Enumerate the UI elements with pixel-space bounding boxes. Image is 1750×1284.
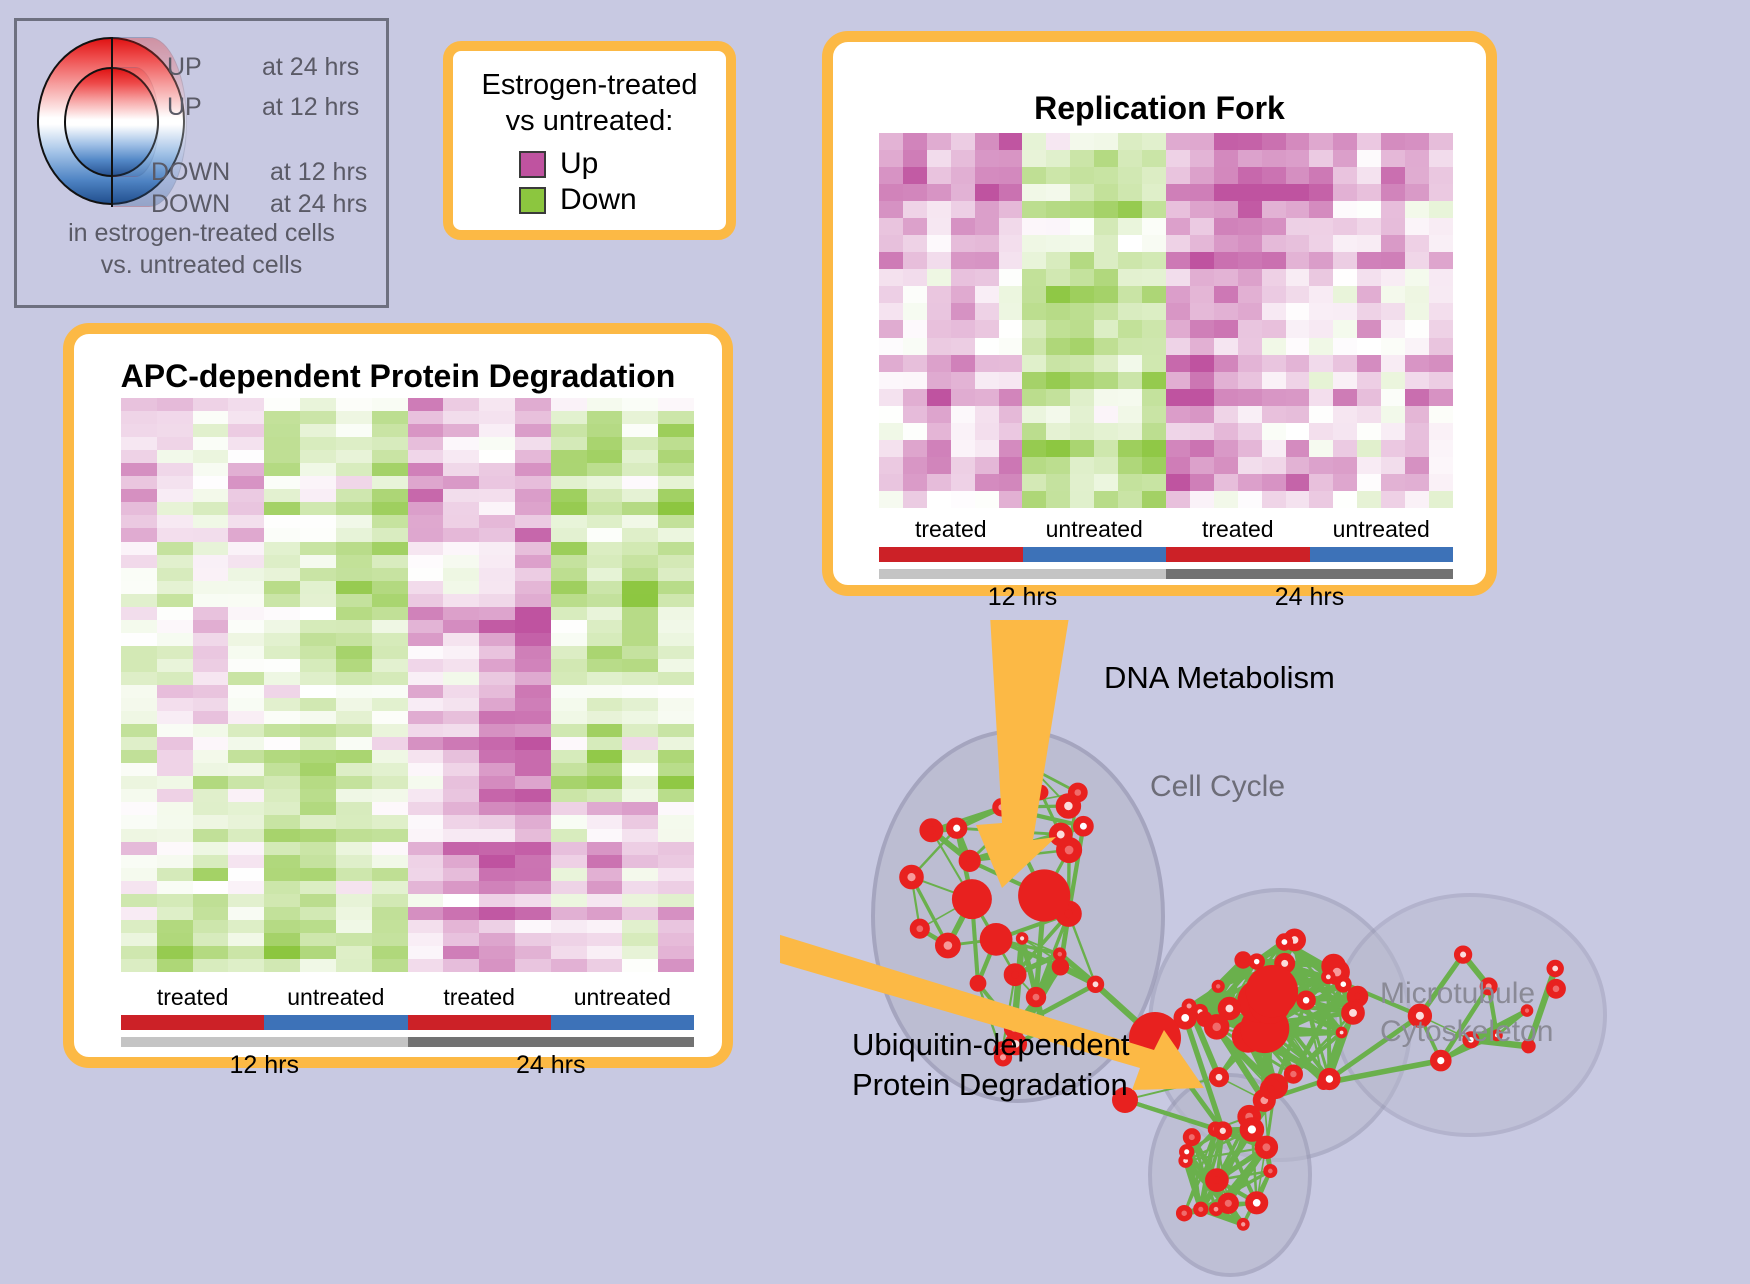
rf-condition-label-2: treated (1166, 516, 1310, 543)
heatmap-cell (1238, 457, 1262, 474)
heatmap-cell (587, 894, 623, 907)
heatmap-cell (1262, 167, 1286, 184)
panel-apc-degradation: APC-dependent Protein Degradation treate… (63, 323, 733, 1068)
heatmap-cell (879, 218, 903, 235)
heatmap-cell (157, 568, 193, 581)
network-node[interactable] (1212, 1071, 1225, 1084)
heatmap-cell (551, 737, 587, 750)
network-node[interactable] (1179, 1208, 1190, 1219)
heatmap-cell (228, 894, 264, 907)
heatmap-cell (443, 698, 479, 711)
heatmap-cell (903, 406, 927, 423)
heatmap-cell (157, 646, 193, 659)
heatmap-cell (408, 489, 444, 502)
heatmap-cell (879, 303, 903, 320)
network-node[interactable] (1324, 972, 1334, 982)
network-node[interactable] (1549, 963, 1561, 975)
heatmap-cell (408, 594, 444, 607)
heatmap-cell (157, 515, 193, 528)
heatmap-cell (1262, 303, 1286, 320)
heatmap-cell (551, 620, 587, 633)
network-node[interactable] (1008, 967, 1023, 982)
network-node[interactable] (1244, 1121, 1260, 1137)
heatmap-cell (1118, 252, 1142, 269)
heatmap-cell (1214, 133, 1238, 150)
heatmap-cell (903, 218, 927, 235)
heatmap-cell (408, 763, 444, 776)
heatmap-cell (1094, 167, 1118, 184)
heatmap-cell (879, 286, 903, 303)
heatmap-cell (1118, 389, 1142, 406)
heatmap-cell (1046, 491, 1070, 508)
heatmap-cell (264, 737, 300, 750)
heatmap-cell (622, 620, 658, 633)
heatmap-cell (1381, 440, 1405, 457)
cluster-label-ubiquitin-line2: Protein Degradation (852, 1065, 1130, 1105)
heatmap-cell (658, 881, 694, 894)
heatmap-cell (121, 515, 157, 528)
heatmap-cell (1118, 372, 1142, 389)
heatmap-cell (479, 776, 515, 789)
heatmap-cell (193, 907, 229, 920)
heatmap-cell (622, 568, 658, 581)
apc-condition-colorbar (121, 1015, 694, 1030)
heatmap-cell (264, 868, 300, 881)
heatmap-cell (479, 620, 515, 633)
heatmap-cell (1094, 355, 1118, 372)
heatmap-cell (999, 372, 1023, 389)
heatmap-cell (1022, 406, 1046, 423)
heatmap-cell (300, 763, 336, 776)
heatmap-cell (443, 959, 479, 972)
network-node[interactable] (1071, 786, 1084, 799)
heatmap-cell (1190, 252, 1214, 269)
network-node[interactable] (980, 923, 1013, 956)
heatmap-cell (372, 528, 408, 541)
network-node[interactable] (923, 822, 939, 838)
heatmap-cell (1166, 303, 1190, 320)
heatmap-cell (1070, 201, 1094, 218)
heatmap-cell (372, 594, 408, 607)
network-node[interactable] (1018, 934, 1026, 942)
heatmap-cell (1022, 286, 1046, 303)
heatmap-cell (658, 411, 694, 424)
heatmap-cell (587, 750, 623, 763)
heatmap-cell (479, 515, 515, 528)
heatmap-cell (264, 829, 300, 842)
heatmap-cell (1046, 252, 1070, 269)
heatmap-cell (1070, 440, 1094, 457)
network-node[interactable] (939, 937, 956, 954)
heatmap-cell (193, 868, 229, 881)
network-node[interactable] (1029, 990, 1043, 1004)
network-node[interactable] (1184, 1001, 1194, 1011)
network-node[interactable] (1246, 965, 1298, 1017)
heatmap-cell (658, 607, 694, 620)
heatmap-cell (1262, 440, 1286, 457)
wheel-midline (111, 37, 113, 207)
colorbar-segment-1 (1166, 569, 1453, 579)
network-node[interactable] (1186, 1131, 1198, 1143)
network-node[interactable] (1237, 954, 1249, 966)
heatmap-cell (408, 789, 444, 802)
heatmap-cell (927, 167, 951, 184)
heatmap-cell (372, 450, 408, 463)
heatmap-cell (336, 398, 372, 411)
heatmap-cell (300, 815, 336, 828)
heatmap-cell (903, 457, 927, 474)
network-node[interactable] (972, 978, 983, 989)
heatmap-cell (903, 150, 927, 167)
heatmap-cell (1429, 406, 1453, 423)
heatmap-cell (975, 184, 999, 201)
heatmap-cell (372, 672, 408, 685)
heatmap-cell (515, 685, 551, 698)
network-node[interactable] (1287, 1068, 1300, 1081)
network-node[interactable] (1338, 979, 1349, 990)
heatmap-cell (622, 724, 658, 737)
apc-condition-labels: treated untreated treated untreated (121, 984, 694, 1011)
heatmap-cell (658, 959, 694, 972)
heatmap-cell (228, 489, 264, 502)
heatmap-cell (1214, 406, 1238, 423)
heatmap-cell (264, 933, 300, 946)
heatmap-cell (1429, 150, 1453, 167)
heatmap-cell (1142, 252, 1166, 269)
heatmap-cell (1262, 269, 1286, 286)
heatmap-cell (1046, 150, 1070, 167)
heatmap-cell (1262, 150, 1286, 167)
heatmap-cell (587, 959, 623, 972)
panel-replication-fork-title: Replication Fork (833, 90, 1486, 127)
heatmap-cell (1070, 423, 1094, 440)
heatmap-cell (1166, 474, 1190, 491)
heatmap-cell (1286, 150, 1310, 167)
heatmap-cell (300, 724, 336, 737)
heatmap-cell (951, 133, 975, 150)
heatmap-cell (1309, 406, 1333, 423)
heatmap-cell (551, 802, 587, 815)
heatmap-cell (975, 338, 999, 355)
heatmap-cell (1238, 133, 1262, 150)
network-node[interactable] (1221, 1196, 1235, 1210)
heatmap-cell (336, 920, 372, 933)
network-node[interactable] (1055, 950, 1064, 959)
heatmap-cell (1070, 355, 1094, 372)
heatmap-cell (1333, 133, 1357, 150)
heatmap-cell (879, 372, 903, 389)
heatmap-cell (479, 581, 515, 594)
heatmap-cell (443, 581, 479, 594)
heatmap-cell (157, 542, 193, 555)
heatmap-cell (1381, 286, 1405, 303)
heatmap-cell (1094, 389, 1118, 406)
rf-condition-colorbar (879, 547, 1453, 562)
heatmap-cell (443, 842, 479, 855)
network-node[interactable] (1239, 1220, 1248, 1229)
heatmap-cell (264, 711, 300, 724)
heatmap-cell (587, 946, 623, 959)
heatmap-cell (927, 338, 951, 355)
heatmap-cell (903, 338, 927, 355)
heatmap-cell (658, 933, 694, 946)
heatmap-cell (1142, 218, 1166, 235)
heatmap-cell (951, 457, 975, 474)
heatmap-cell (264, 881, 300, 894)
heatmap-cell (1357, 355, 1381, 372)
heatmap-cell (157, 476, 193, 489)
heatmap-cell (408, 881, 444, 894)
heatmap-cell (1046, 474, 1070, 491)
heatmap-cell (228, 946, 264, 959)
heatmap-cell (1166, 184, 1190, 201)
heatmap-cell (515, 411, 551, 424)
heatmap-cell (228, 907, 264, 920)
heatmap-cell (264, 502, 300, 515)
heatmap-cell (587, 620, 623, 633)
heatmap-cell (515, 711, 551, 724)
heatmap-cell (264, 685, 300, 698)
heatmap-cell (372, 881, 408, 894)
heatmap-cell (975, 252, 999, 269)
heatmap-cell (658, 450, 694, 463)
heatmap-cell (300, 737, 336, 750)
heatmap-cell (336, 907, 372, 920)
network-node[interactable] (1300, 994, 1313, 1007)
heatmap-cell (1357, 372, 1381, 389)
heatmap-cell (193, 411, 229, 424)
network-node[interactable] (1249, 1195, 1264, 1210)
heatmap-cell (336, 763, 372, 776)
heatmap-cell (1166, 286, 1190, 303)
heatmap-cell (999, 320, 1023, 337)
heatmap-cell (193, 620, 229, 633)
heatmap-cell (1405, 218, 1429, 235)
heatmap-cell (1309, 338, 1333, 355)
heatmap-cell (443, 489, 479, 502)
network-node[interactable] (962, 854, 977, 869)
heatmap-cell (228, 568, 264, 581)
colorbar-segment-1 (408, 1037, 695, 1047)
heatmap-cell (879, 201, 903, 218)
heatmap-cell (1381, 252, 1405, 269)
heatmap-cell (1309, 440, 1333, 457)
network-node[interactable] (1457, 949, 1469, 961)
heatmap-cell (121, 489, 157, 502)
heatmap-cell (1046, 269, 1070, 286)
heatmap-cell (193, 724, 229, 737)
heatmap-cell (336, 515, 372, 528)
network-node[interactable] (1208, 1018, 1225, 1035)
network-node[interactable] (1090, 979, 1102, 991)
heatmap-cell (975, 218, 999, 235)
updown-legend-items: Up Down (519, 147, 637, 219)
network-node[interactable] (1222, 1001, 1238, 1017)
heatmap-cell (408, 515, 444, 528)
heatmap-cell (121, 398, 157, 411)
network-node[interactable] (1345, 1005, 1361, 1021)
network-node[interactable] (1338, 1029, 1346, 1037)
heatmap-cell (1022, 320, 1046, 337)
network-node[interactable] (1214, 982, 1223, 991)
heatmap-cell (372, 842, 408, 855)
heatmap-cell (479, 711, 515, 724)
network-node[interactable] (1322, 1072, 1337, 1087)
heatmap-cell (1333, 474, 1357, 491)
heatmap-cell (975, 406, 999, 423)
network-node[interactable] (913, 922, 926, 935)
heatmap-cell (622, 581, 658, 594)
heatmap-cell (443, 724, 479, 737)
heatmap-cell (408, 802, 444, 815)
heatmap-cell (443, 411, 479, 424)
heatmap-cell (443, 607, 479, 620)
network-node[interactable] (1251, 956, 1262, 967)
heatmap-cell (300, 802, 336, 815)
heatmap-cell (999, 355, 1023, 372)
network-node[interactable] (1211, 1205, 1220, 1214)
heatmap-cell (157, 633, 193, 646)
network-node[interactable] (1264, 1082, 1278, 1096)
heatmap-cell (300, 555, 336, 568)
heatmap-cell (336, 829, 372, 842)
network-node[interactable] (1053, 827, 1069, 843)
heatmap-cell (622, 450, 658, 463)
heatmap-cell (1238, 303, 1262, 320)
network-node[interactable] (950, 821, 964, 835)
heatmap-cell (1046, 355, 1070, 372)
network-node[interactable] (1018, 869, 1070, 921)
heatmap-cell (264, 894, 300, 907)
heatmap-cell (1166, 406, 1190, 423)
heatmap-cell (1238, 269, 1262, 286)
heatmap-cell (408, 607, 444, 620)
heatmap-cell (622, 776, 658, 789)
heatmap-cell (372, 581, 408, 594)
heatmap-cell (1286, 474, 1310, 491)
cluster-label-microtubule: Microtubule Cytoskeleton (1380, 975, 1553, 1051)
heatmap-cell (443, 659, 479, 672)
heatmap-cell (515, 607, 551, 620)
heatmap-cell (1309, 303, 1333, 320)
heatmap-cell (193, 672, 229, 685)
wheel-label-up-12: UP (167, 94, 202, 120)
figure-canvas: UP at 24 hrs UP at 12 hrs DOWN at 12 hrs… (0, 0, 1750, 1279)
heatmap-cell (443, 476, 479, 489)
heatmap-cell (121, 528, 157, 541)
network-node[interactable] (1196, 1204, 1206, 1214)
heatmap-cell (1357, 286, 1381, 303)
colorbar-segment-0 (879, 569, 1166, 579)
heatmap-cell (479, 633, 515, 646)
heatmap-cell (1309, 133, 1333, 150)
legend-item-up-label: Up (560, 147, 598, 181)
heatmap-cell (443, 646, 479, 659)
heatmap-cell (228, 607, 264, 620)
heatmap-cell (1118, 338, 1142, 355)
heatmap-cell (1405, 423, 1429, 440)
heatmap-cell (264, 450, 300, 463)
network-node[interactable] (1077, 819, 1091, 833)
colorbar-segment-3 (1310, 547, 1454, 562)
heatmap-cell (1309, 167, 1333, 184)
heatmap-cell (1070, 338, 1094, 355)
network-node[interactable] (903, 869, 919, 885)
heatmap-cell (951, 372, 975, 389)
network-node[interactable] (1434, 1053, 1448, 1067)
heatmap-cell (1286, 218, 1310, 235)
heatmap-cell (1381, 338, 1405, 355)
heatmap-cell (300, 672, 336, 685)
heatmap-cell (372, 933, 408, 946)
heatmap-cell (515, 594, 551, 607)
heatmap-cell (408, 581, 444, 594)
heatmap-cell (264, 698, 300, 711)
network-node[interactable] (952, 879, 992, 919)
colorbar-segment-2 (408, 1015, 551, 1030)
network-node[interactable] (1217, 1125, 1230, 1138)
heatmap-replication-fork (879, 133, 1453, 508)
heatmap-cell (1357, 150, 1381, 167)
heatmap-cell (443, 763, 479, 776)
heatmap-cell (551, 463, 587, 476)
heatmap-cell (622, 829, 658, 842)
heatmap-cell (1286, 406, 1310, 423)
heatmap-cell (193, 920, 229, 933)
heatmap-cell (336, 868, 372, 881)
heatmap-cell (121, 646, 157, 659)
heatmap-cell (999, 303, 1023, 320)
heatmap-cell (658, 685, 694, 698)
heatmap-cell (372, 398, 408, 411)
network-node[interactable] (1209, 1172, 1225, 1188)
heatmap-cell (157, 450, 193, 463)
heatmap-cell (1357, 338, 1381, 355)
heatmap-cell (1022, 338, 1046, 355)
heatmap-cell (975, 423, 999, 440)
network-node[interactable] (1055, 961, 1067, 973)
heatmap-cell (121, 737, 157, 750)
heatmap-cell (300, 659, 336, 672)
heatmap-cell (157, 724, 193, 737)
heatmap-cell (228, 842, 264, 855)
heatmap-cell (264, 424, 300, 437)
heatmap-cell (408, 528, 444, 541)
heatmap-cell (300, 437, 336, 450)
network-node[interactable] (1259, 1140, 1275, 1156)
network-node[interactable] (1279, 936, 1291, 948)
heatmap-cell (228, 515, 264, 528)
heatmap-cell (121, 907, 157, 920)
heatmap-cell (1022, 201, 1046, 218)
network-node[interactable] (1266, 1166, 1275, 1175)
heatmap-cell (1190, 235, 1214, 252)
heatmap-cell (1070, 133, 1094, 150)
network-node[interactable] (1182, 1147, 1192, 1157)
heatmap-cell (1309, 474, 1333, 491)
heatmap-cell (336, 685, 372, 698)
heatmap-cell (879, 389, 903, 406)
heatmap-cell (622, 750, 658, 763)
heatmap-cell (551, 515, 587, 528)
heatmap-cell (1214, 252, 1238, 269)
heatmap-cell (1381, 303, 1405, 320)
heatmap-cell (121, 502, 157, 515)
heatmap-cell (879, 252, 903, 269)
heatmap-cell (157, 855, 193, 868)
heatmap-cell (193, 802, 229, 815)
apc-time-labels: 12 hrs 24 hrs (121, 1051, 694, 1080)
